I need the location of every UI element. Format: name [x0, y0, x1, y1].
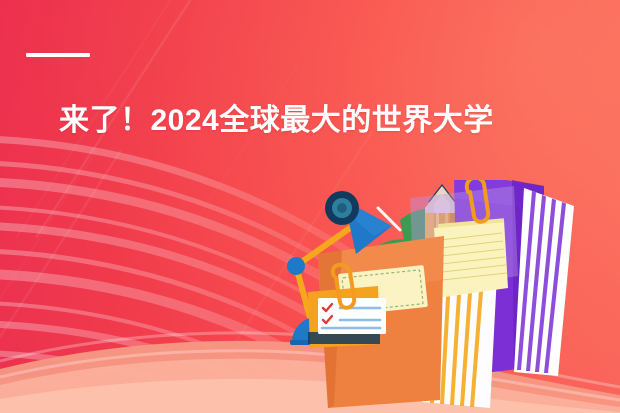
background-tint: [0, 0, 620, 413]
accent-rule: [26, 53, 90, 57]
promo-banner: 来了！2024全球最大的世界大学: [0, 0, 620, 413]
page-title: 来了！2024全球最大的世界大学: [59, 101, 494, 141]
